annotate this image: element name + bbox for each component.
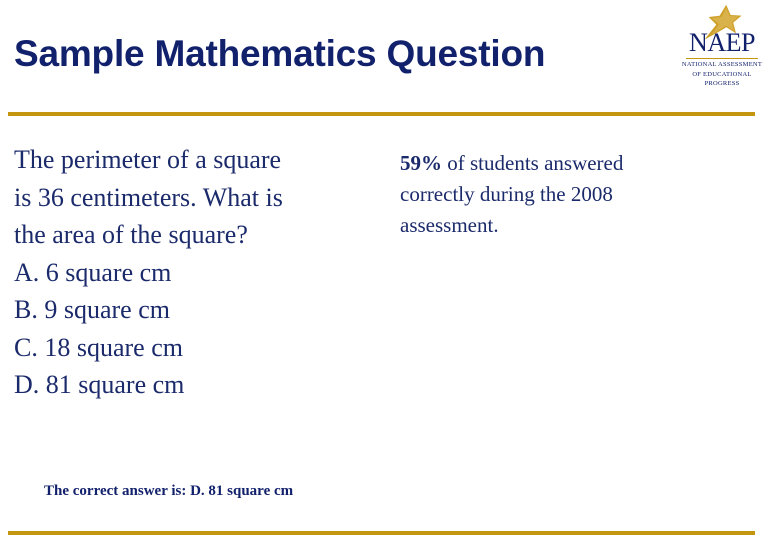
- naep-tagline-line-3: PROGRESS: [678, 79, 766, 89]
- choice-a[interactable]: A. 6 square cm: [14, 254, 374, 292]
- page-title: Sample Mathematics Question: [14, 32, 654, 76]
- question-block: The perimeter of a square is 36 centimet…: [14, 141, 374, 404]
- header-divider: [8, 112, 755, 116]
- question-stem-line-2: is 36 centimeters. What is: [14, 179, 374, 217]
- naep-logo: NAEP NATIONAL ASSESSMENT OF EDUCATIONAL …: [678, 4, 766, 92]
- naep-tagline-line-2: OF EDUCATIONAL: [678, 70, 766, 80]
- naep-wordmark: NAEP: [678, 30, 766, 56]
- statistic-percent: 59%: [400, 151, 442, 175]
- question-stem-line-3: the area of the square?: [14, 216, 374, 254]
- naep-logo-divider: [686, 58, 758, 59]
- naep-tagline-line-1: NATIONAL ASSESSMENT: [678, 60, 766, 70]
- footer-divider: [8, 531, 755, 535]
- slide-canvas: Sample Mathematics Question NAEP NATIONA…: [0, 0, 771, 548]
- statistic-block: 59% of students answered correctly durin…: [400, 148, 700, 241]
- choice-b[interactable]: B. 9 square cm: [14, 291, 374, 329]
- choice-d[interactable]: D. 81 square cm: [14, 366, 374, 404]
- naep-tagline: NATIONAL ASSESSMENT OF EDUCATIONAL PROGR…: [678, 60, 766, 89]
- choice-c[interactable]: C. 18 square cm: [14, 329, 374, 367]
- question-stem-line-1: The perimeter of a square: [14, 141, 374, 179]
- correct-answer-note: The correct answer is: D. 81 square cm: [44, 481, 293, 501]
